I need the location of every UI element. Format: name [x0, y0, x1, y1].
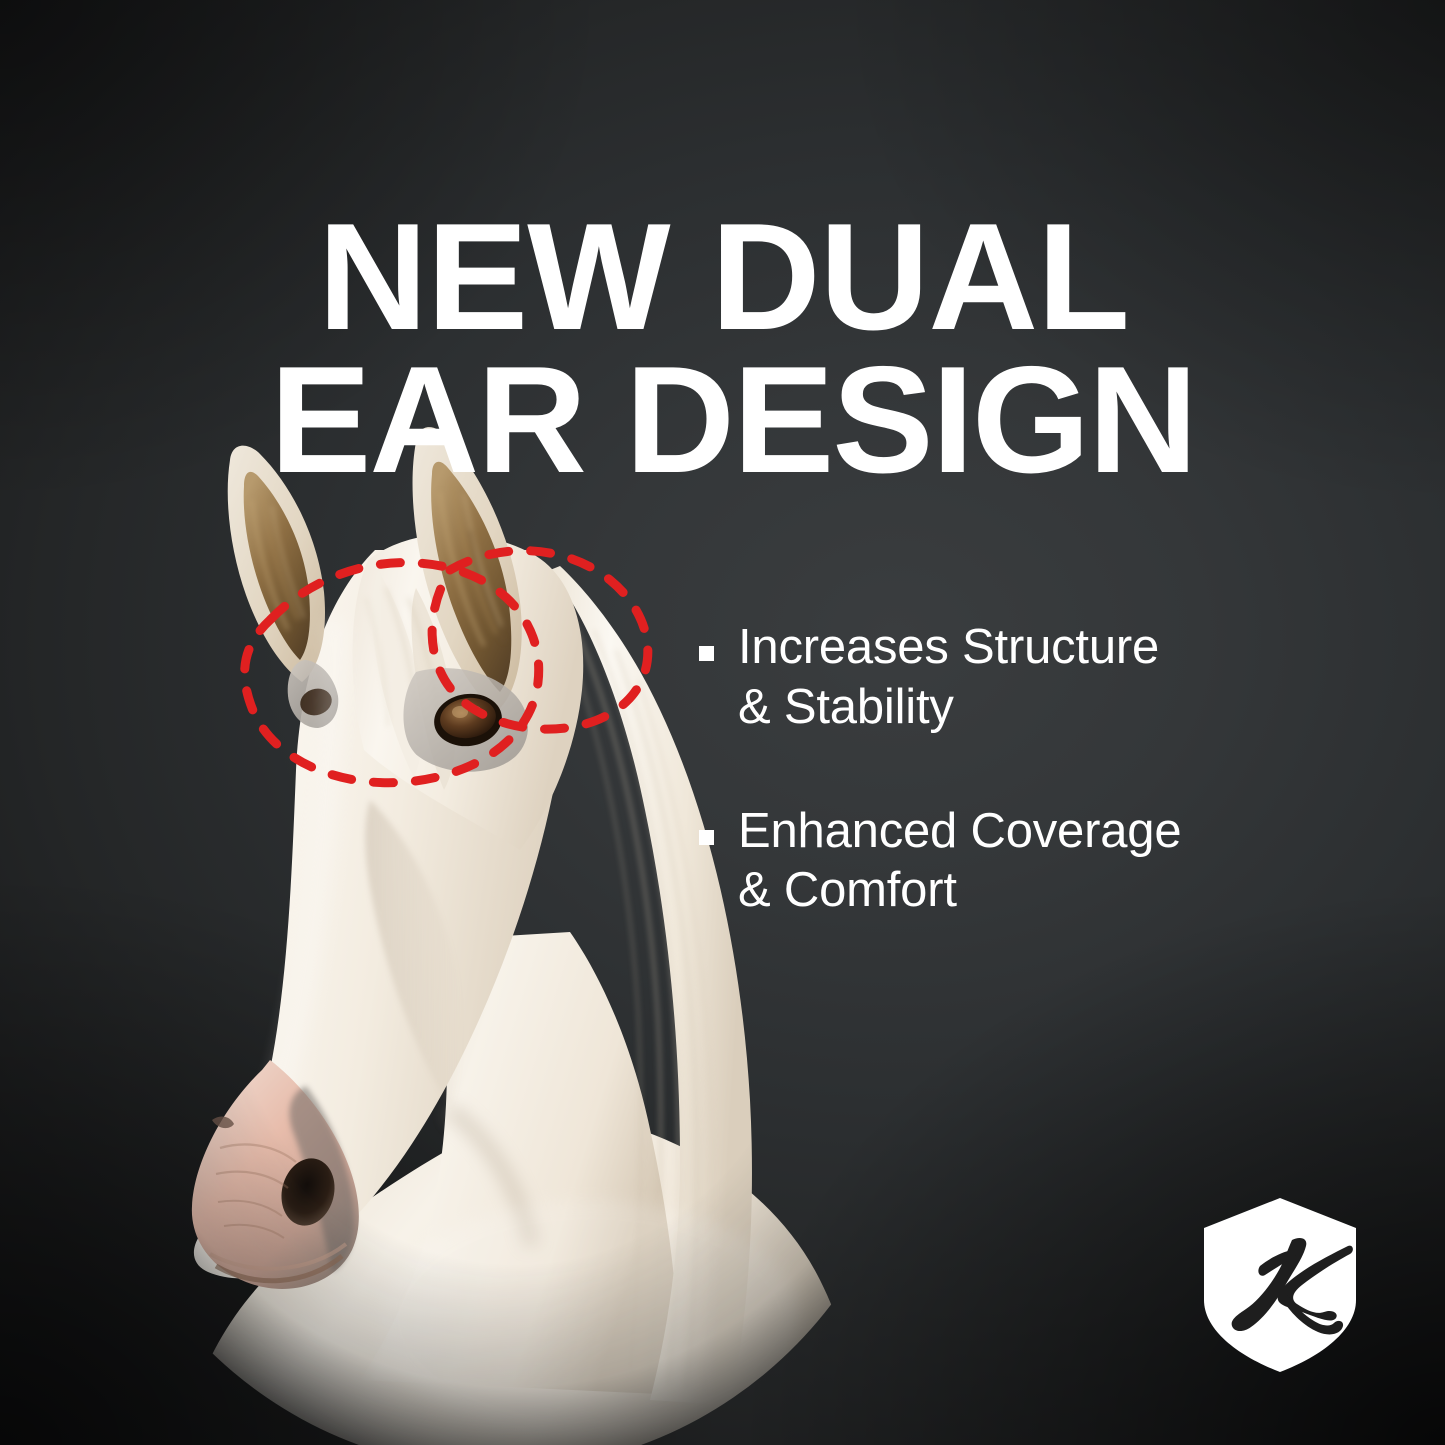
feature-text: Increases Structure & Stability: [738, 618, 1159, 738]
white-horse-head-photo: [120, 420, 860, 1445]
headline-line-1: NEW DUAL: [318, 206, 1218, 349]
list-item: Increases Structure & Stability: [699, 618, 1359, 738]
headline-line-2: EAR DESIGN: [270, 349, 1218, 492]
square-bullet-icon: [699, 646, 714, 661]
k-shield-logo: [1196, 1196, 1364, 1374]
list-item: Enhanced Coverage & Comfort: [699, 802, 1359, 922]
page-title: NEW DUAL EAR DESIGN: [318, 206, 1218, 492]
square-bullet-icon: [699, 830, 714, 845]
promo-graphic: NEW DUAL EAR DESIGN Increases Structure …: [0, 0, 1445, 1445]
feature-list: Increases Structure & Stability Enhanced…: [699, 618, 1359, 921]
feature-text: Enhanced Coverage & Comfort: [738, 802, 1181, 922]
